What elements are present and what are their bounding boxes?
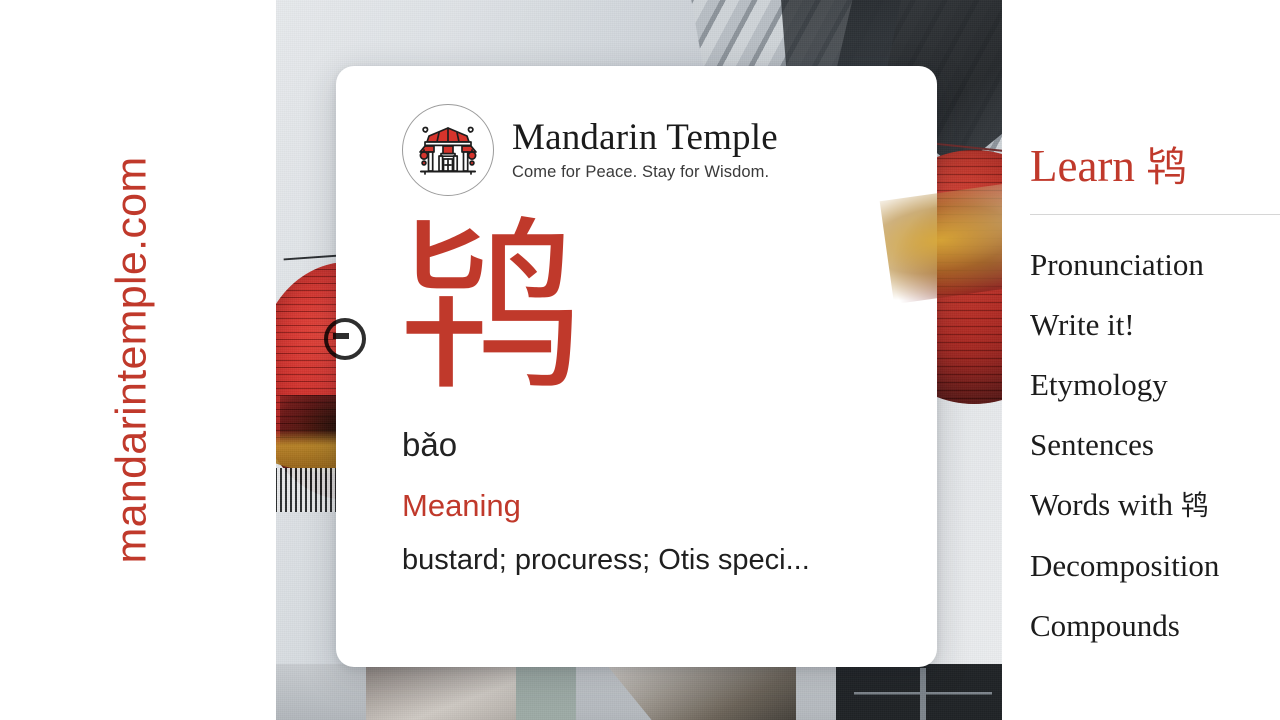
photo-bottom-architecture xyxy=(276,664,1002,720)
photo-lantern-left-emblem xyxy=(324,318,366,360)
sidebar-item-label: Sentences xyxy=(1030,427,1154,462)
photo-building-b xyxy=(516,664,576,720)
sidebar-item-label: Decomposition xyxy=(1030,548,1219,583)
site-url-watermark: mandarintemple.com xyxy=(108,157,157,564)
sidebar-item-decomposition[interactable]: Decomposition xyxy=(1030,536,1270,596)
sidebar-item-label: Write it! xyxy=(1030,307,1135,342)
sidebar-item-label: Etymology xyxy=(1030,367,1168,402)
brand-text-block: Mandarin Temple Come for Peace. Stay for… xyxy=(512,118,778,181)
sidebar-item-words-with[interactable]: Words with 鸨 xyxy=(1030,475,1270,536)
sidebar-item-sentences[interactable]: Sentences xyxy=(1030,415,1270,475)
meaning-text: bustard; procuress; Otis speci... xyxy=(336,544,937,577)
brand-tagline: Come for Peace. Stay for Wisdom. xyxy=(512,163,778,182)
sidebar-divider xyxy=(1030,214,1280,215)
sidebar-title: Learn 鸨 xyxy=(1030,142,1270,192)
photo-building-c xyxy=(606,664,796,720)
temple-gate-icon xyxy=(402,104,494,196)
card-brand-header: Mandarin Temple Come for Peace. Stay for… xyxy=(336,104,937,196)
brand-title: Mandarin Temple xyxy=(512,118,778,157)
watermark-column: mandarintemple.com xyxy=(0,0,276,720)
sidebar-item-label: Compounds xyxy=(1030,608,1180,643)
sidebar-item-write-it[interactable]: Write it! xyxy=(1030,295,1270,355)
sidebar-item-character: 鸨 xyxy=(1181,489,1209,522)
sidebar-item-label: Words with xyxy=(1030,487,1181,522)
slide-root: mandarintemple.com xyxy=(0,0,1280,720)
learn-sidebar: Learn 鸨 Pronunciation Write it! Etymolog… xyxy=(1002,0,1280,720)
vocabulary-card: Mandarin Temple Come for Peace. Stay for… xyxy=(336,66,937,667)
sidebar-item-compounds[interactable]: Compounds xyxy=(1030,596,1270,656)
sidebar-item-label: Pronunciation xyxy=(1030,247,1204,282)
hanzi-character: 鸨 xyxy=(336,206,937,412)
pinyin-reading: bǎo xyxy=(336,426,937,464)
sidebar-menu: Pronunciation Write it! Etymology Senten… xyxy=(1030,235,1270,656)
photo-window-frame xyxy=(836,664,1002,720)
meaning-label: Meaning xyxy=(336,488,937,524)
sidebar-item-pronunciation[interactable]: Pronunciation xyxy=(1030,235,1270,295)
sidebar-title-prefix: Learn xyxy=(1030,141,1146,191)
sidebar-title-character: 鸨 xyxy=(1146,143,1187,191)
sidebar-item-etymology[interactable]: Etymology xyxy=(1030,355,1270,415)
